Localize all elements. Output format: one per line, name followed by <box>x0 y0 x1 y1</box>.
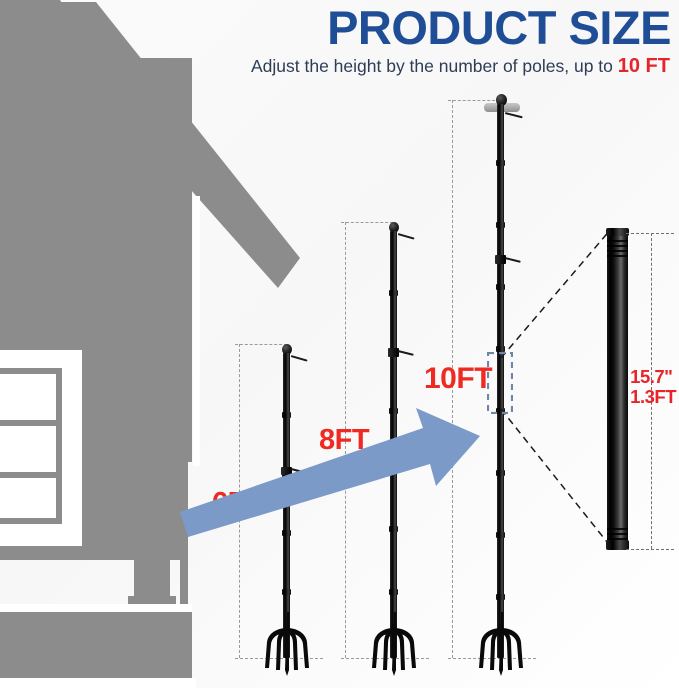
pole-thread <box>607 533 628 535</box>
pole-thread <box>607 538 628 540</box>
subtitle-highlight: 10 FT <box>618 55 670 77</box>
dimension-feet: 1.3FT <box>630 387 676 407</box>
product-size-infographic: PRODUCT SIZE Adjust the height by the nu… <box>0 0 679 688</box>
callout-dimension-tick-top <box>626 233 674 234</box>
pole-thread <box>607 240 628 242</box>
ground-stake-icon <box>363 612 425 676</box>
callout-dimension-tick-bottom <box>626 549 674 550</box>
pole-joint <box>389 290 398 296</box>
pole-joint <box>496 160 505 166</box>
callout-source-box <box>487 352 513 414</box>
page-title: PRODUCT SIZE <box>327 4 671 51</box>
pole-joint <box>282 589 291 595</box>
callout-dimension-label: 15.7" 1.3FT <box>630 367 676 407</box>
header: PRODUCT SIZE Adjust the height by the nu… <box>0 0 679 88</box>
ground-stake-icon <box>470 612 532 676</box>
pole-thread <box>607 255 628 257</box>
dimension-tick-top-10ft <box>448 100 500 101</box>
hook-icon <box>505 112 523 118</box>
height-label-10ft: 10FT <box>424 362 492 396</box>
dimension-inches: 15.7" <box>630 367 676 387</box>
height-increase-arrow <box>180 400 520 540</box>
pole-joint <box>496 594 505 600</box>
pole-thread-cap-top <box>606 228 629 236</box>
hook-icon <box>398 350 414 356</box>
callout-pole-segment <box>607 232 628 547</box>
pole-joint <box>389 589 398 595</box>
subtitle: Adjust the height by the number of poles… <box>251 57 670 76</box>
hook-icon <box>398 233 415 240</box>
dimension-tick-top-6ft <box>235 344 287 345</box>
dimension-tick-top-8ft <box>341 222 393 223</box>
pole-thread <box>607 250 628 252</box>
ground-stake-icon <box>256 612 318 676</box>
subtitle-text: Adjust the height by the number of poles… <box>251 56 618 76</box>
pole-thread <box>607 245 628 247</box>
pole-thread <box>607 528 628 530</box>
